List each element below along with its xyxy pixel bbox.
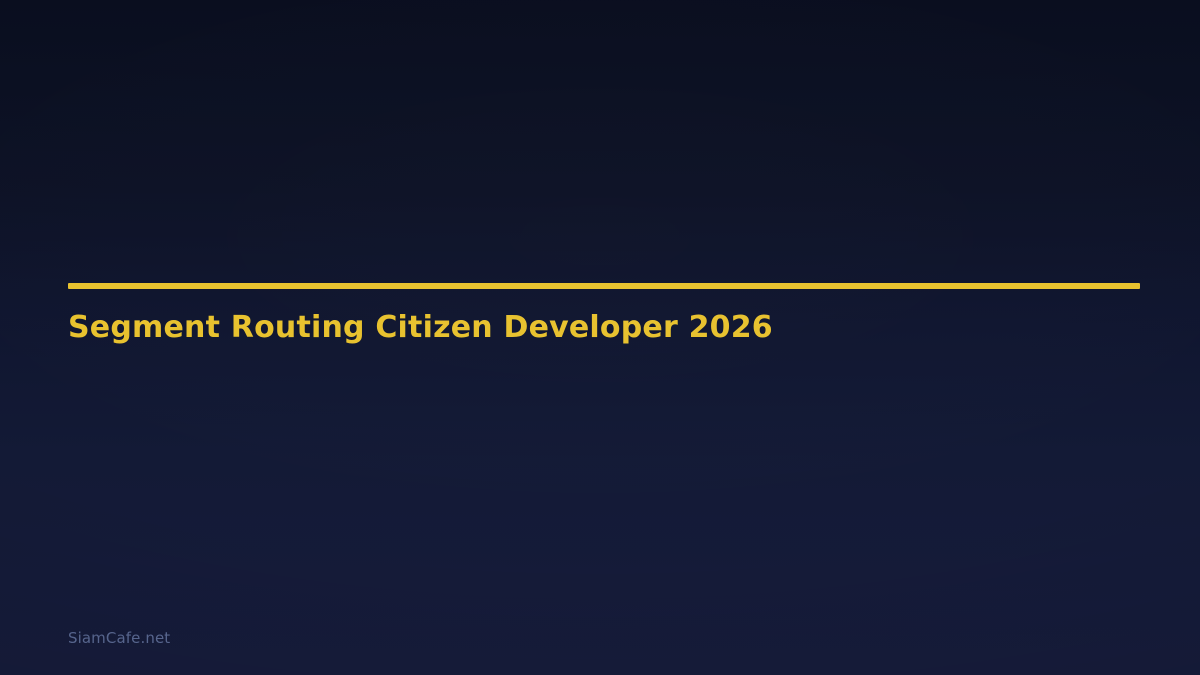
page-title: Segment Routing Citizen Developer 2026 <box>68 310 773 346</box>
title-slide: Segment Routing Citizen Developer 2026 S… <box>0 0 1200 675</box>
accent-bar <box>68 283 1140 289</box>
title-block: Segment Routing Citizen Developer 2026 <box>68 283 1140 289</box>
footer-branding: SiamCafe.net <box>68 629 170 648</box>
